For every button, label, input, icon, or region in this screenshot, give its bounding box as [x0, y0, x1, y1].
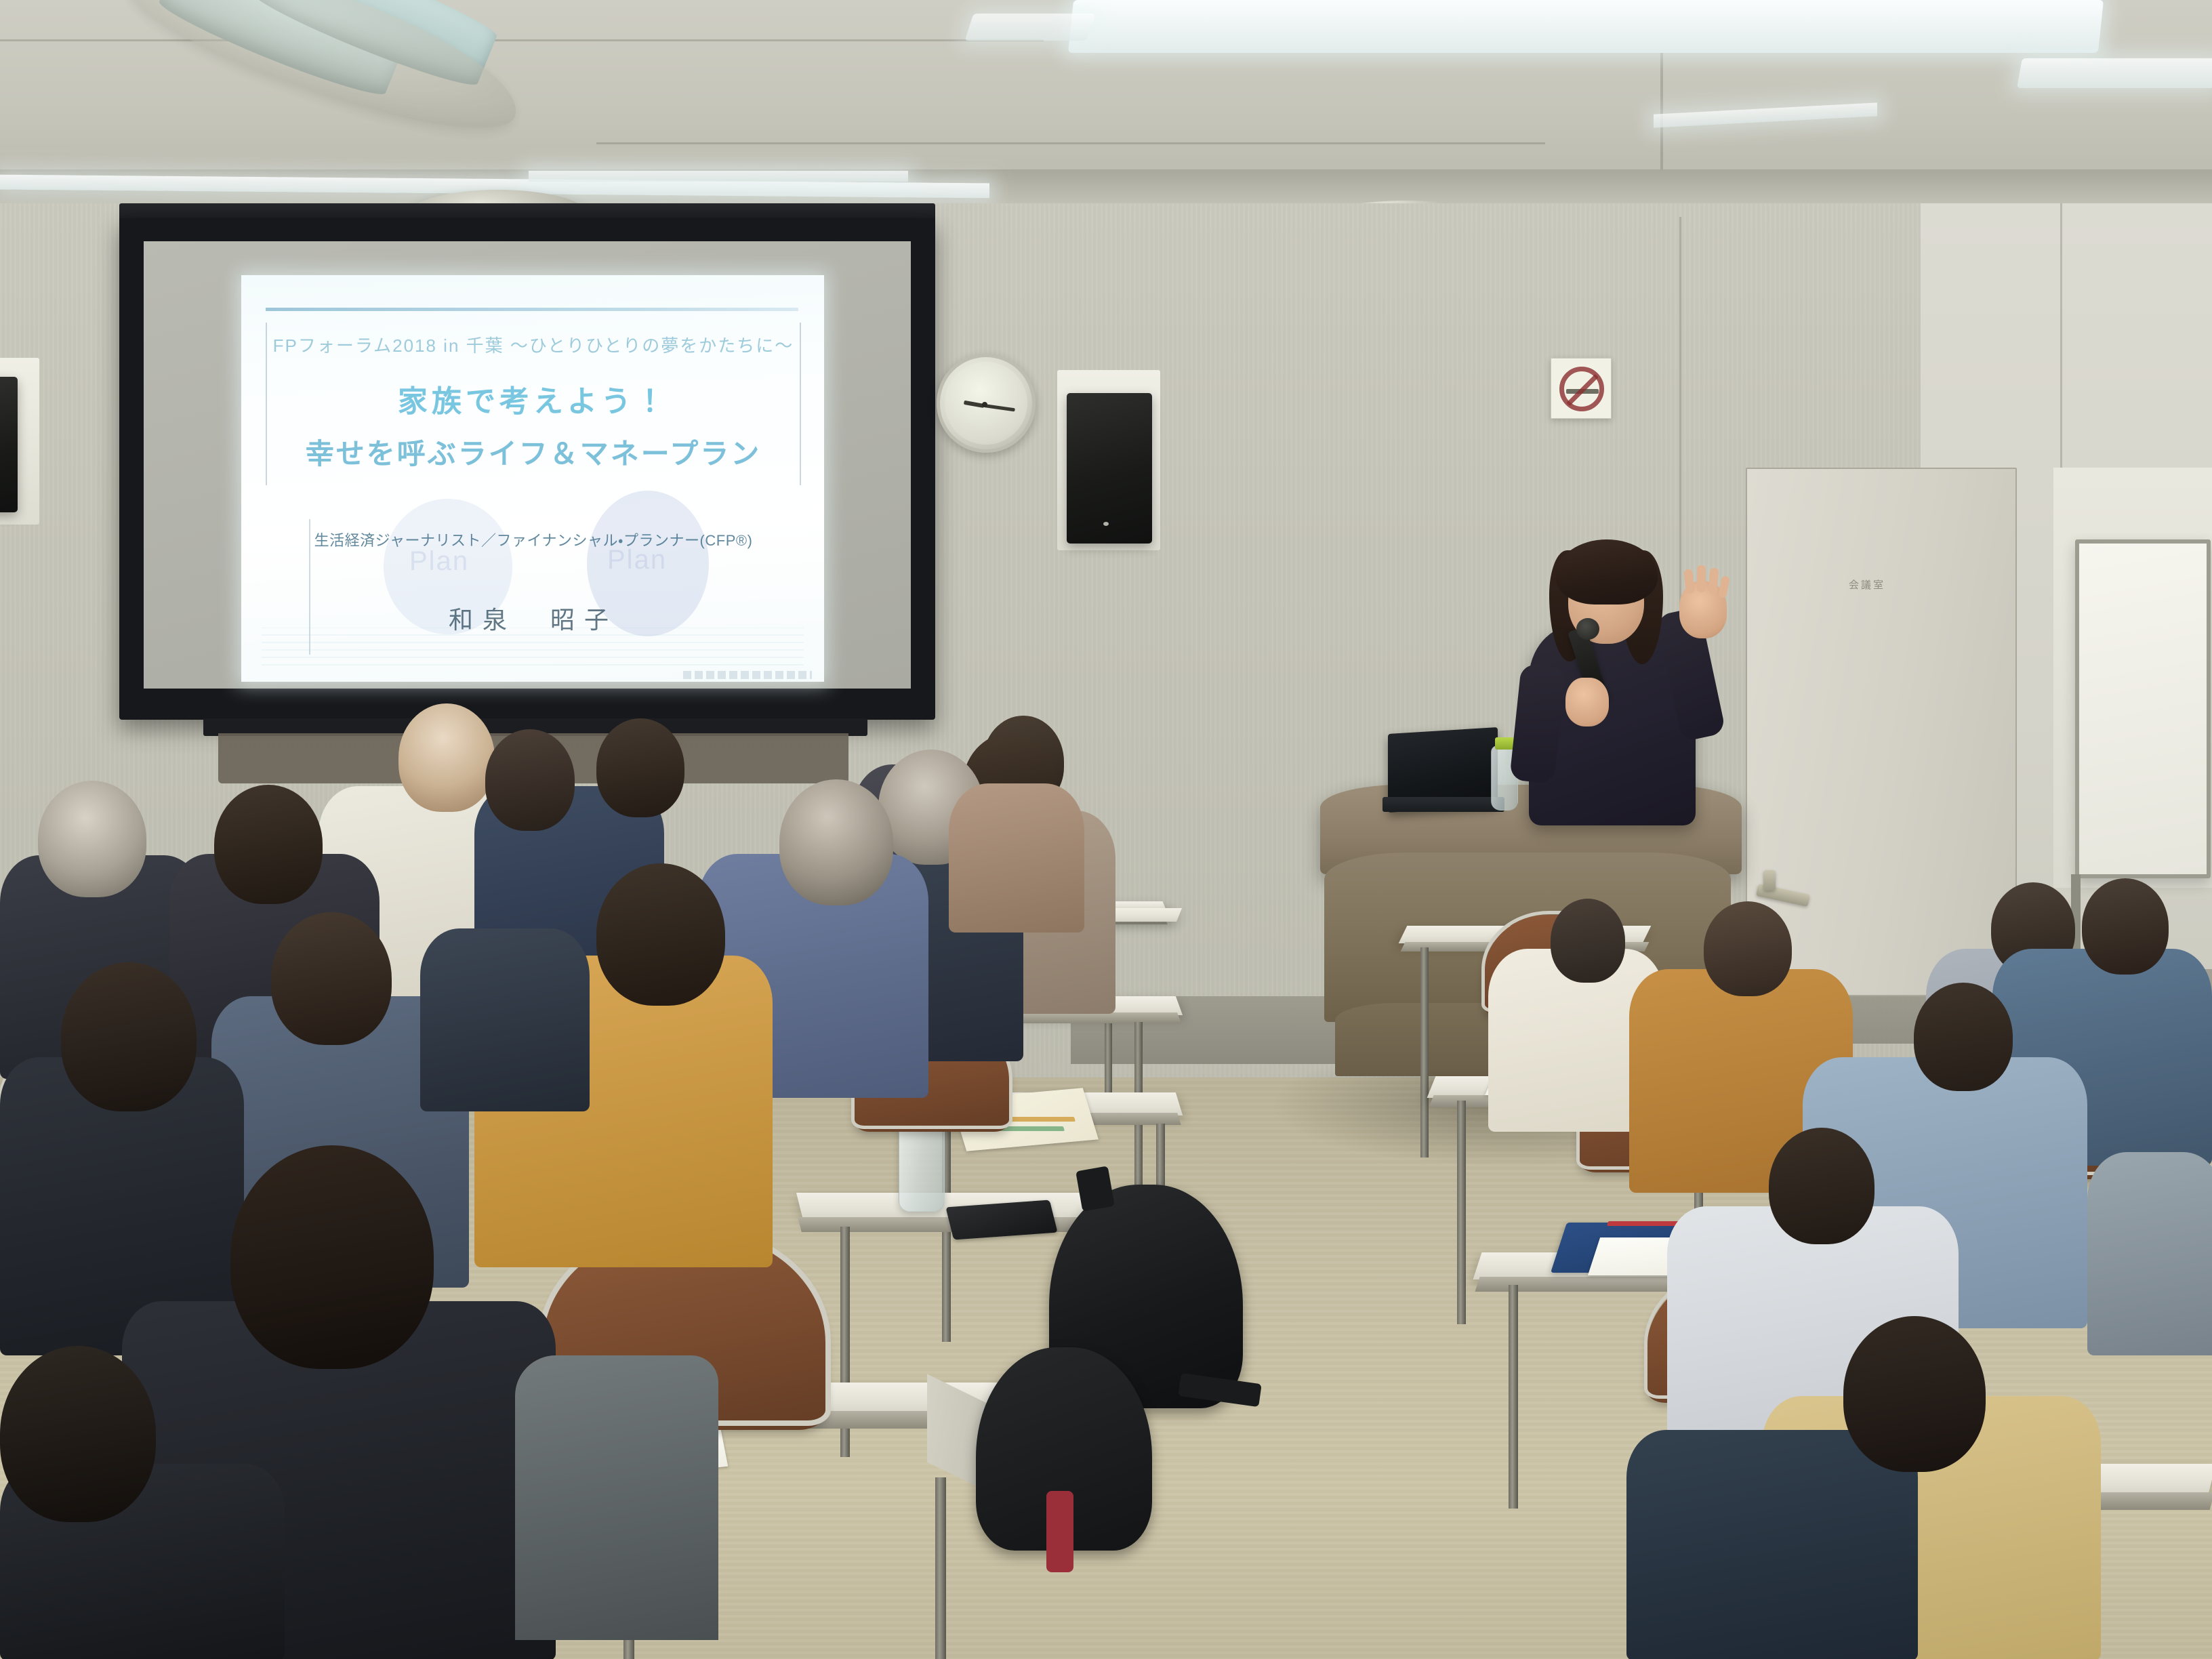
audience-head — [1769, 1128, 1875, 1244]
ceiling-tile-line — [0, 39, 1044, 41]
audience-person-far-right — [2087, 1152, 2212, 1355]
slide-title-line-1: 家族で考えよう！ — [267, 377, 800, 420]
audience-head — [485, 729, 575, 831]
clock-center-pin — [982, 402, 987, 407]
audience-person-dark-sleeve — [1626, 1430, 1918, 1659]
ceiling-fluorescent-light — [1068, 0, 2104, 53]
hand-finger — [1697, 565, 1706, 592]
desk-leg — [1509, 1285, 1518, 1509]
slide-taskbar-strip — [683, 671, 812, 679]
bottle-cap — [1495, 737, 1514, 750]
audience-head — [2082, 878, 2169, 975]
audience-head — [61, 962, 197, 1111]
slide-title-line-2: 幸せを呼ぶライフ＆マネープラン — [267, 431, 800, 472]
audience-head — [1551, 899, 1625, 983]
audience-head-bottom-left — [0, 1346, 156, 1522]
ceiling-fluorescent-light — [2017, 58, 2212, 88]
door-lock[interactable] — [1763, 870, 1776, 890]
audience-head-gray-hair — [779, 779, 893, 905]
presenter-hair-top — [1556, 539, 1658, 605]
audience-head-foreground — [230, 1145, 434, 1369]
projection-screen: Plan Plan FPフォーラム2018 in 千葉 ～ひとりひとりの夢をかた… — [119, 218, 935, 720]
ceiling-tile-line — [596, 142, 1545, 144]
ceiling-strip-light — [529, 171, 908, 182]
audience-head — [271, 912, 392, 1045]
audience-head-balding — [398, 703, 495, 812]
door-sign: 会議室 — [1849, 577, 1885, 592]
wall-clock — [937, 354, 1036, 453]
screen-surface: Plan Plan FPフォーラム2018 in 千葉 ～ひとりひとりの夢をかた… — [144, 241, 911, 689]
clock-face — [945, 362, 1027, 445]
desk-leg — [1457, 1101, 1466, 1324]
speaker-led — [1103, 522, 1109, 526]
whiteboard — [2075, 539, 2211, 878]
audience-head — [596, 863, 725, 1006]
backpack-strap — [1076, 1166, 1115, 1211]
audience-head — [1914, 983, 2013, 1091]
microphone-head — [1576, 618, 1599, 640]
clock-minute-hand — [984, 404, 1015, 411]
audience-person-tan-small — [949, 783, 1084, 933]
desk-leg — [1420, 947, 1429, 1158]
room-door[interactable]: 会議室 — [1746, 468, 2017, 996]
presenter-mic-hand — [1565, 678, 1609, 726]
audience-person-center-dark — [420, 928, 590, 1111]
audience-plaid-sleeve — [515, 1355, 718, 1640]
seminar-room-photograph: Plan Plan FPフォーラム2018 in 千葉 ～ひとりひとりの夢をかた… — [0, 0, 2212, 1659]
no-smoking-sign — [1551, 358, 1612, 419]
slide-credential-text: 生活経済ジャーナリスト／ファイナンシャル・プランナー(CFP®) — [310, 529, 756, 550]
slide-profile-footer — [262, 628, 804, 665]
wall-speaker-right — [1067, 393, 1152, 544]
slide-top-rule — [266, 308, 798, 311]
laptop-base — [1382, 797, 1504, 812]
desk-leg — [935, 1477, 946, 1659]
projected-slide: Plan Plan FPフォーラム2018 in 千葉 ～ひとりひとりの夢をかた… — [241, 275, 824, 682]
clock-hour-hand — [964, 401, 985, 408]
ceiling-fluorescent-light — [965, 14, 1096, 41]
audience-head — [214, 785, 323, 904]
audience-head-foreground-right — [1843, 1316, 1986, 1472]
wall-speaker-left — [0, 377, 18, 512]
audience-head — [1704, 901, 1792, 996]
audience-head — [596, 718, 684, 817]
slide-title-block: FPフォーラム2018 in 千葉 ～ひとりひとりの夢をかたちに～ 家族で考えよ… — [266, 323, 801, 485]
hand-finger — [1708, 568, 1719, 594]
audience-head-gray-hair — [38, 781, 146, 897]
bag-red-handle — [1046, 1491, 1073, 1572]
slide-header-text: FPフォーラム2018 in 千葉 ～ひとりひとりの夢をかたちに～ — [267, 332, 800, 357]
